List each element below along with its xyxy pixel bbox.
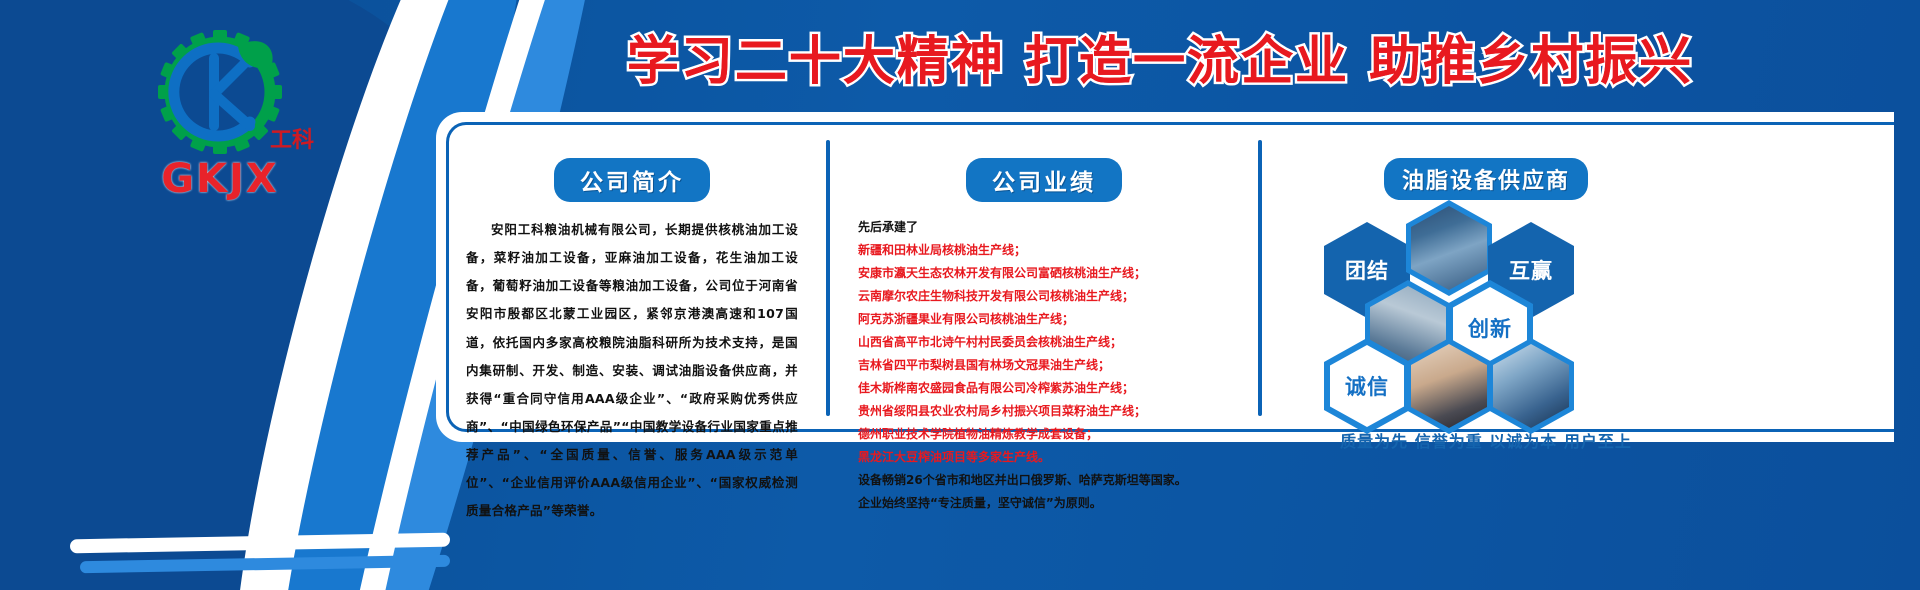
panel-company-profile: 公司简介 安阳工科粮油机械有限公司，长期提供核桃油加工设备，菜籽油加工设备，亚麻… <box>452 132 812 426</box>
supplier-slogan: 质量为先 信誉为重 以诚为本 用户至上 <box>1290 428 1682 452</box>
hex-photo-aircraft-carrier <box>1406 200 1492 296</box>
panel-supplier: 油脂设备供应商 团结 互赢 创新 诚信 质量为先 信誉为重 以诚为本 用户至上 <box>1276 132 1696 426</box>
poster-canvas: 工科 GKJX 学习二十大精神 打造一流企业 助推乡村振兴 学习二十大精神 打造… <box>0 0 1920 590</box>
performance-project-item: 佳木斯桦南农盛园食品有限公司冷榨紫苏油生产线； <box>858 377 1230 400</box>
logo-chinese-name: 工科 <box>270 122 314 154</box>
company-logo: 工科 GKJX <box>120 28 320 208</box>
hex-value-integrity-label: 诚信 <box>1330 345 1404 427</box>
performance-project-item: 新疆和田林业局核桃油生产线； <box>858 239 1230 262</box>
column-divider-2 <box>1258 140 1262 416</box>
performance-project-list: 新疆和田林业局核桃油生产线；安康市瀛天生态农林开发有限公司富硒核桃油生产线；云南… <box>858 239 1230 469</box>
panel-company-performance: 公司业绩 先后承建了 新疆和田林业局核桃油生产线；安康市瀛天生态农林开发有限公司… <box>844 132 1244 426</box>
performance-project-item: 山西省高平市北诗午村村民委员会核桃油生产线； <box>858 331 1230 354</box>
performance-project-item: 安康市瀛天生态农林开发有限公司富硒核桃油生产线； <box>858 262 1230 285</box>
skyscraper-photo-icon <box>1493 344 1569 428</box>
performance-project-item: 阿克苏浙疆果业有限公司核桃油生产线； <box>858 308 1230 331</box>
column-divider-1 <box>826 140 830 416</box>
content-columns: 公司简介 安阳工科粮油机械有限公司，长期提供核桃油加工设备，菜籽油加工设备，亚麻… <box>452 128 1894 426</box>
panel-title-supplier: 油脂设备供应商 <box>1384 158 1588 200</box>
performance-tail-notes: 设备畅销26个省市和地区并出口俄罗斯、哈萨克斯坦等国家。企业始终坚持“专注质量，… <box>858 469 1230 515</box>
handshake-photo-icon <box>1411 344 1487 428</box>
performance-project-item: 黑龙江大豆榨油项目等多家生产线。 <box>858 446 1230 469</box>
performance-project-item: 云南摩尔农庄生物科技开发有限公司核桃油生产线； <box>858 285 1230 308</box>
performance-tail-item: 设备畅销26个省市和地区并出口俄罗斯、哈萨克斯坦等国家。 <box>858 469 1230 492</box>
company-profile-body: 安阳工科粮油机械有限公司，长期提供核桃油加工设备，菜籽油加工设备，亚麻油加工设备… <box>466 216 798 525</box>
performance-list: 先后承建了 新疆和田林业局核桃油生产线；安康市瀛天生态农林开发有限公司富硒核桃油… <box>858 216 1230 515</box>
panel-title-company-profile: 公司简介 <box>554 158 710 202</box>
panel-title-company-performance: 公司业绩 <box>966 158 1122 202</box>
performance-project-item: 贵州省绥阳县农业农村局乡村振兴项目菜籽油生产线； <box>858 400 1230 423</box>
performance-project-item: 德州职业技术学院植物油精炼教学成套设备； <box>858 423 1230 446</box>
values-hex-grid: 团结 互赢 创新 诚信 <box>1290 214 1690 414</box>
performance-project-item: 吉林省四平市梨树县国有林场文冠果油生产线； <box>858 354 1230 377</box>
logo-wordmark: GKJX <box>120 156 320 202</box>
page-title: 学习二十大精神 打造一流企业 助推乡村振兴 <box>430 18 1890 94</box>
performance-tail-item: 企业始终坚持“专注质量，坚守诚信”为原则。 <box>858 492 1230 515</box>
performance-lead: 先后承建了 <box>858 216 1230 239</box>
aircraft-carrier-photo-icon <box>1411 206 1487 290</box>
